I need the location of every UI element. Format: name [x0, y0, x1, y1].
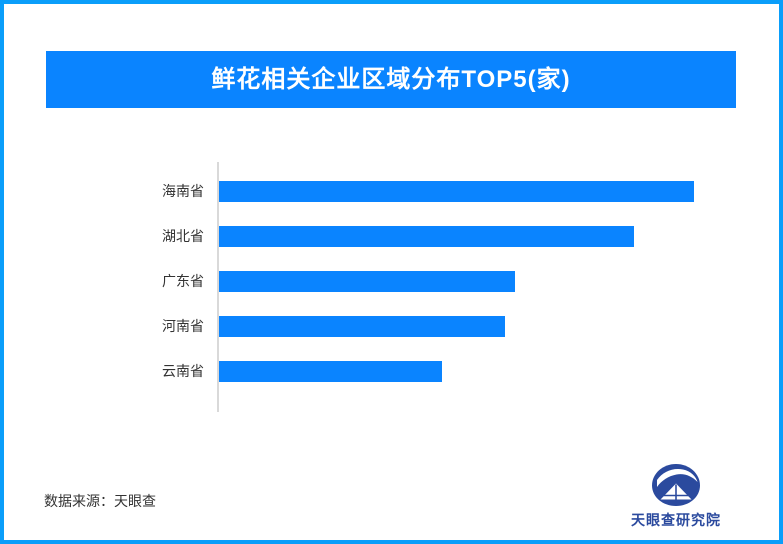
chart-bar-row: 湖北省: [46, 226, 746, 247]
chart-bar-row: 河南省: [46, 316, 746, 337]
chart-category-label: 云南省: [46, 361, 204, 382]
page-title: 鲜花相关企业区域分布TOP5(家): [211, 68, 570, 92]
chart-bar: [219, 271, 515, 292]
chart-category-label: 河南省: [46, 316, 204, 337]
chart-bar-track: [219, 226, 739, 247]
chart-bar-row: 广东省: [46, 271, 746, 292]
data-source-label: 数据来源：天眼查: [44, 491, 156, 511]
infographic-poster: 鲜花相关企业区域分布TOP5(家) 海南省湖北省广东省河南省云南省 数据来源：天…: [0, 0, 783, 544]
chart-bar-row: 云南省: [46, 361, 746, 382]
tianyancha-eye-mountain-logo-icon: [651, 463, 701, 507]
chart-bar: [219, 361, 442, 382]
title-banner: 鲜花相关企业区域分布TOP5(家): [46, 51, 736, 108]
chart-bar-track: [219, 181, 739, 202]
chart-category-label: 海南省: [46, 181, 204, 202]
brand-logo-text: 天眼查研究院: [631, 510, 721, 530]
brand-logo: 天眼查研究院: [617, 463, 735, 535]
chart-category-label: 广东省: [46, 271, 204, 292]
chart-bar-track: [219, 316, 739, 337]
chart-bar-row: 海南省: [46, 181, 746, 202]
chart-bar: [219, 316, 505, 337]
chart-bar-track: [219, 361, 739, 382]
chart-bar-rows: 海南省湖北省广东省河南省云南省: [46, 162, 746, 412]
bar-chart: 海南省湖北省广东省河南省云南省: [46, 154, 746, 419]
chart-bar: [219, 181, 694, 202]
chart-bar-track: [219, 271, 739, 292]
chart-bar: [219, 226, 634, 247]
chart-category-label: 湖北省: [46, 226, 204, 247]
